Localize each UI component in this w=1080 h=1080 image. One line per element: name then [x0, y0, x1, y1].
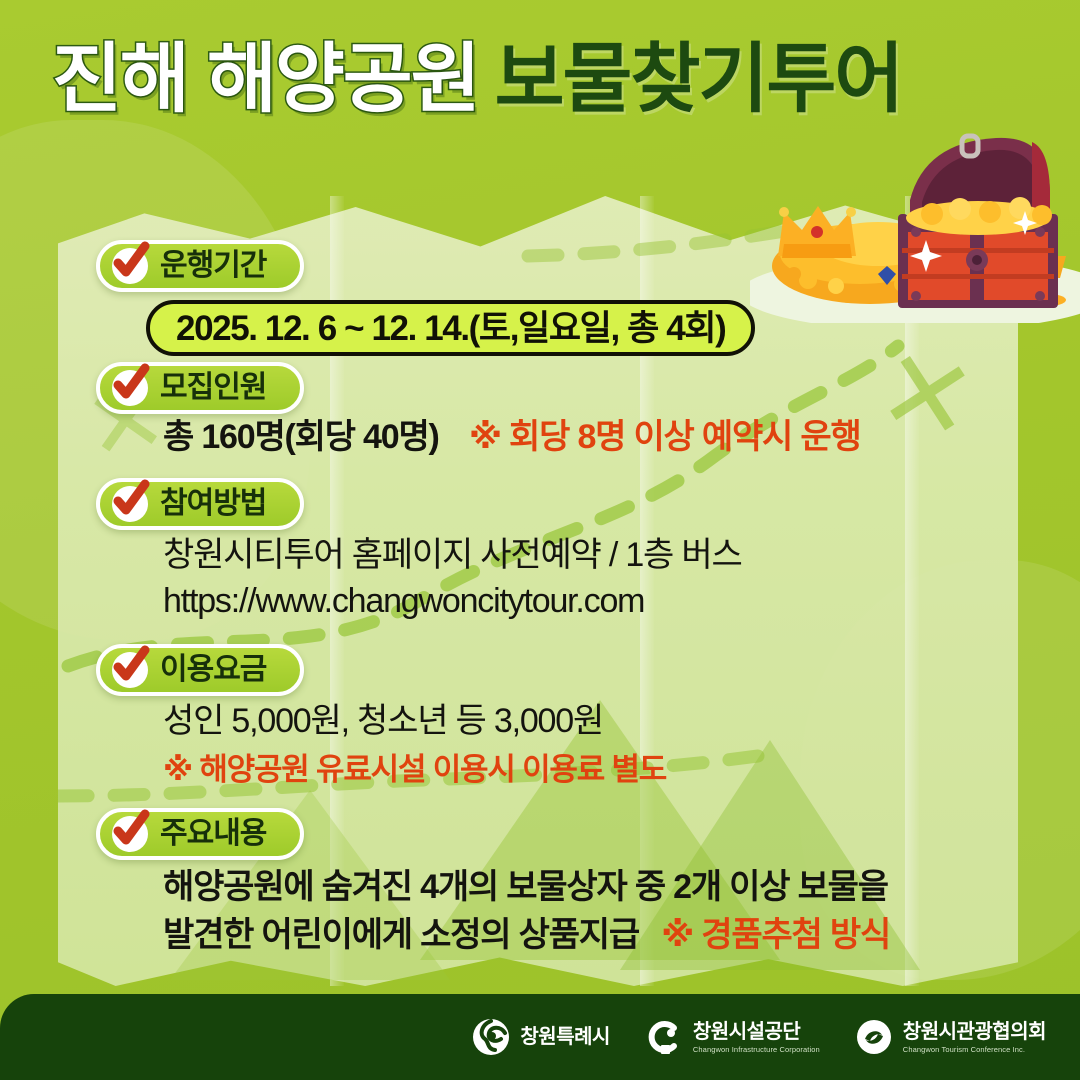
section-pill-fare: 이용요금 [96, 644, 304, 696]
poster-title: 진해 해양공원 보물찾기투어 [52, 42, 902, 118]
section-label: 참여방법 [160, 489, 266, 519]
logo-name-ko: 창원시관광협의회 [903, 1021, 1046, 1043]
operating-period-text: 2025. 12. 6 ~ 12. 14.(토,일요일, 총 4회) [176, 311, 725, 346]
logo-changwon-tourism: 창원시관광협의회 Changwon Tourism Conference Inc… [854, 1017, 1046, 1057]
title-secondary: 보물찾기투어 [495, 42, 903, 118]
logo-name-en: Changwon Tourism Conference Inc. [903, 1045, 1046, 1054]
poster-canvas: ✕ ✕ 진해 해양공원 보물찾기투어 [0, 0, 1080, 1080]
main-content-text: 발견한 어린이에게 소정의 상품지급 [163, 916, 639, 954]
section-pill-main-content: 주요내용 [96, 808, 304, 860]
check-icon [112, 816, 148, 852]
section-pill-operating-period: 운행기간 [96, 240, 304, 292]
participation-url[interactable]: https://www.changwoncitytour.com [163, 582, 644, 621]
operating-period-value: 2025. 12. 6 ~ 12. 14.(토,일요일, 총 4회) [146, 300, 755, 356]
check-icon [112, 370, 148, 406]
logo-name-ko: 창원특례시 [520, 1026, 610, 1048]
section-label: 이용요금 [160, 655, 266, 685]
main-content-line-2: 발견한 어린이에게 소정의 상품지급 ※ 경품추첨 방식 [163, 916, 890, 955]
capacity-line: 총 160명(회당 40명) ※ 회당 8명 이상 예약시 운행 [163, 418, 861, 457]
treasure-chest-illustration [750, 108, 1080, 323]
section-label: 모집인원 [160, 373, 266, 403]
capacity-text: 총 160명(회당 40명) [163, 418, 439, 456]
logo-name-ko: 창원시설공단 [693, 1021, 820, 1043]
capacity-note: ※ 회당 8명 이상 예약시 운행 [469, 418, 861, 456]
section-pill-capacity: 모집인원 [96, 362, 304, 414]
changwon-tourism-emblem-icon [854, 1017, 894, 1057]
main-content-note: ※ 경품추첨 방식 [661, 916, 890, 954]
changwon-city-emblem-icon [471, 1017, 511, 1057]
title-primary: 진해 해양공원 [52, 42, 479, 118]
logo-text-group: 창원시관광협의회 Changwon Tourism Conference Inc… [903, 1021, 1046, 1054]
section-pill-participation: 참여방법 [96, 478, 304, 530]
logo-name-en: Changwon Infrastructure Corporation [693, 1045, 820, 1054]
logo-changwon-city: 창원특례시 [471, 1017, 610, 1057]
check-icon [112, 248, 148, 284]
fare-line: 성인 5,000원, 청소년 등 3,000원 [163, 702, 603, 741]
logo-changwon-infrastructure: 창원시설공단 Changwon Infrastructure Corporati… [644, 1017, 820, 1057]
check-icon [112, 652, 148, 688]
participation-line-1: 창원시티투어 홈페이지 사전예약 / 1층 버스 [163, 536, 742, 575]
fare-note: ※ 해양공원 유료시설 이용시 이용료 별도 [163, 752, 666, 788]
logo-text-group: 창원시설공단 Changwon Infrastructure Corporati… [693, 1021, 820, 1054]
main-content-line-1: 해양공원에 숨겨진 4개의 보물상자 중 2개 이상 보물을 [163, 868, 888, 907]
check-icon [112, 486, 148, 522]
footer-bar: 창원특례시 창원시설공단 Changwon Infrastructure Cor… [0, 994, 1080, 1080]
logo-text-group: 창원특례시 [520, 1026, 610, 1048]
section-label: 주요내용 [160, 819, 266, 849]
changwon-infrastructure-emblem-icon [644, 1017, 684, 1057]
section-label: 운행기간 [160, 251, 266, 281]
